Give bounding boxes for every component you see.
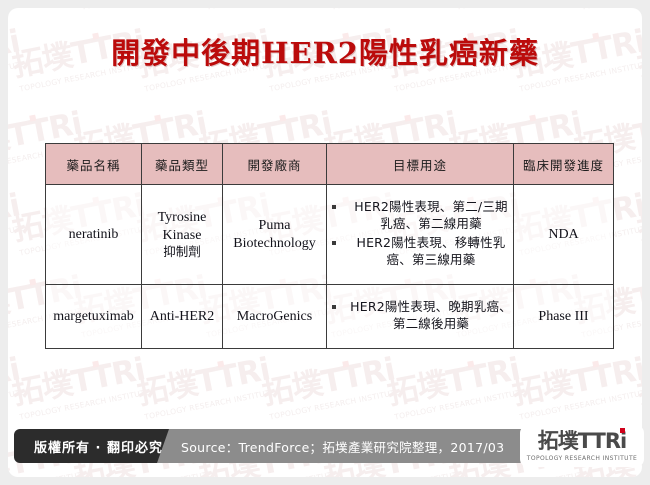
cell-developer: Puma Biotechnology	[223, 185, 327, 285]
column-header-target-use: 目標用途	[327, 144, 514, 185]
bullet-icon	[332, 205, 336, 209]
copyright-text: 版權所有 · 翻印必究	[34, 437, 163, 456]
target-use-text: HER2陽性表現、第二/三期乳癌、第二線用藥	[354, 199, 507, 231]
target-use-list: HER2陽性表現、第二/三期乳癌、第二線用藥 HER2陽性表現、移轉性乳癌、第三…	[327, 199, 513, 268]
logo-tagline: TOPOLOGY RESEARCH INSTITUTE	[527, 455, 637, 462]
cell-target-use: HER2陽性表現、第二/三期乳癌、第二線用藥 HER2陽性表現、移轉性乳癌、第三…	[327, 185, 514, 285]
drug-name-text: neratinib	[69, 227, 119, 242]
drug-type-line-1: Anti-HER2	[142, 308, 222, 326]
cell-drug-type: Tyrosine Kinase 抑制劑	[142, 185, 223, 285]
watermark-logo-icon: 拓墣TTRiTOPOLOGY RESEARCH INSTITUTE	[629, 183, 642, 287]
table-row: margetuximab Anti-HER2 MacroGenics	[46, 285, 614, 349]
drug-type-line-2: Kinase	[142, 227, 222, 245]
list-item: HER2陽性表現、移轉性乳癌、第三線用藥	[327, 235, 513, 268]
logo-wordmark: 拓墣TTRi	[538, 431, 627, 452]
target-use-text: HER2陽性表現、晚期乳癌、第二線後用藥	[350, 299, 512, 331]
target-use-list: HER2陽性表現、晚期乳癌、第二線後用藥	[327, 299, 513, 332]
column-header-drug-type: 藥品類型	[142, 144, 223, 185]
cell-developer: MacroGenics	[223, 285, 327, 349]
bullet-icon	[332, 305, 336, 309]
cell-clinical-stage: Phase III	[514, 285, 614, 349]
watermark-row: 拓墣TTRiTOPOLOGY RESEARCH INSTITUTE拓墣TTRiT…	[8, 8, 642, 30]
column-header-drug-name: 藥品名稱	[46, 144, 142, 185]
column-header-developer: 開發廠商	[223, 144, 327, 185]
page-title: 開發中後期HER2陽性乳癌新藥	[8, 30, 642, 72]
drug-table: 藥品名稱 藥品類型 開發廠商 目標用途 臨床開發進度 neratinib Tyr…	[45, 143, 614, 349]
slide-page: 拓墣TTRiTOPOLOGY RESEARCH INSTITUTE拓墣TTRiT…	[8, 8, 642, 477]
source-text: Source：TrendForce；拓墣產業研究院整理，2017/03	[181, 437, 504, 456]
list-item: HER2陽性表現、晚期乳癌、第二線後用藥	[327, 299, 513, 332]
table-row: neratinib Tyrosine Kinase 抑制劑 Puma Biote…	[46, 185, 614, 285]
developer-line-2: Biotechnology	[223, 235, 326, 253]
slide-root: 拓墣TTRiTOPOLOGY RESEARCH INSTITUTE拓墣TTRiT…	[0, 0, 650, 485]
drug-type-line-3: 抑制劑	[142, 244, 222, 260]
column-header-clinical-stage: 臨床開發進度	[514, 144, 614, 185]
watermark-logo-icon: 拓墣TTRiTOPOLOGY RESEARCH INSTITUTE	[8, 183, 18, 287]
developer-line-1: Puma	[223, 217, 326, 235]
drug-table-container: 藥品名稱 藥品類型 開發廠商 目標用途 臨床開發進度 neratinib Tyr…	[45, 143, 614, 349]
developer-line-1: MacroGenics	[223, 308, 326, 326]
clinical-stage-text: Phase III	[538, 309, 588, 324]
drug-name-text: margetuximab	[53, 309, 134, 324]
drug-type-line-1: Tyrosine	[142, 209, 222, 227]
bullet-icon	[332, 241, 336, 245]
clinical-stage-text: NDA	[548, 227, 578, 242]
cell-drug-name: margetuximab	[46, 285, 142, 349]
cell-drug-name: neratinib	[46, 185, 142, 285]
list-item: HER2陽性表現、第二/三期乳癌、第二線用藥	[327, 199, 513, 232]
tri-logo: 拓墣TTRi TOPOLOGY RESEARCH INSTITUTE	[520, 425, 644, 467]
cell-target-use: HER2陽性表現、晚期乳癌、第二線後用藥	[327, 285, 514, 349]
table-body: neratinib Tyrosine Kinase 抑制劑 Puma Biote…	[46, 185, 614, 349]
target-use-text: HER2陽性表現、移轉性乳癌、第三線用藥	[356, 235, 505, 267]
cell-drug-type: Anti-HER2	[142, 285, 223, 349]
cell-clinical-stage: NDA	[514, 185, 614, 285]
table-header: 藥品名稱 藥品類型 開發廠商 目標用途 臨床開發進度	[46, 144, 614, 185]
slide-footer: 版權所有 · 翻印必究 Source：TrendForce；拓墣產業研究院整理，…	[0, 429, 650, 471]
source-banner: Source：TrendForce；拓墣產業研究院整理，2017/03	[157, 429, 544, 463]
logo-wordmark-text: 拓墣TTRi	[538, 429, 627, 453]
logo-dot-icon	[620, 428, 625, 433]
table-header-row: 藥品名稱 藥品類型 開發廠商 目標用途 臨床開發進度	[46, 144, 614, 185]
